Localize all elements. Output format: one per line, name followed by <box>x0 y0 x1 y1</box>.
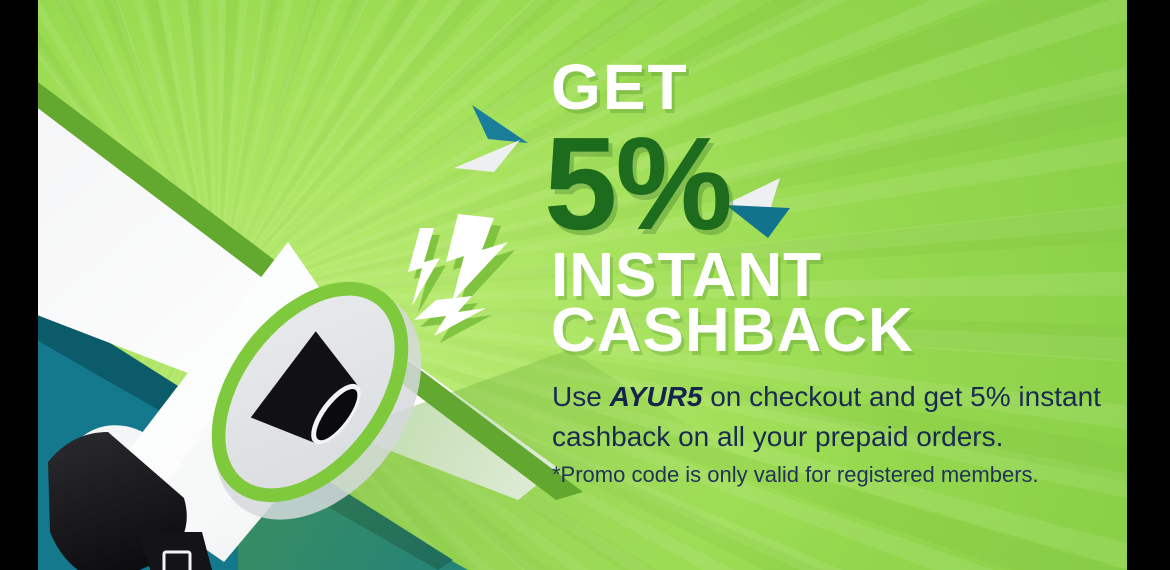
right-letterbox-bar <box>1127 0 1170 570</box>
headline-line-2: CASHBACK <box>551 300 914 362</box>
triangle-white-lower-left <box>450 136 522 174</box>
banner-artboard: GET 5% INSTANT CASHBACK Use AYUR5 on che… <box>38 0 1127 570</box>
promo-code: AYUR5 <box>610 381 703 412</box>
discount-value: 5% <box>544 118 731 250</box>
lightning-bolts-group <box>390 210 535 350</box>
copy-block: GET 5% INSTANT CASHBACK Use AYUR5 on che… <box>538 0 1127 570</box>
body-text: Use AYUR5 on checkout and get 5% instant… <box>552 377 1127 457</box>
body-text-prefix: Use <box>552 381 610 412</box>
megaphone-icon <box>38 180 448 570</box>
left-letterbox-bar <box>0 0 38 570</box>
promo-banner: GET 5% INSTANT CASHBACK Use AYUR5 on che… <box>0 0 1170 570</box>
footnote-text: *Promo code is only valid for registered… <box>552 462 1039 488</box>
